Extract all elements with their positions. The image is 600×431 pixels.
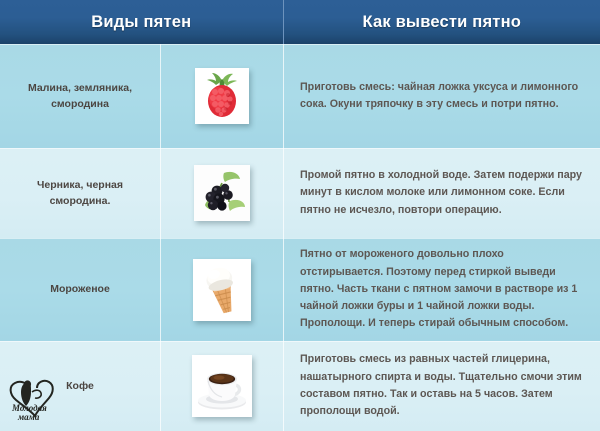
blackcurrant-image <box>194 165 250 221</box>
table-header: Виды пятен Как вывести пятно <box>0 0 600 44</box>
table-row: Мороженое Пятно <box>0 238 600 341</box>
table-row: Черника, черная смородина. <box>0 148 600 238</box>
removal-instructions-cell: Промой пятно в холодной воде. Затем поде… <box>283 148 600 238</box>
stain-removal-table: Виды пятен Как вывести пятно Малина, зем… <box>0 0 600 431</box>
ice-cream-cone-image <box>193 259 251 321</box>
header-cell-how-to-remove: Как вывести пятно <box>283 0 600 44</box>
stain-name-cell: Мороженое <box>0 238 160 341</box>
coffee-cup-image <box>192 355 252 417</box>
header-cell-stain-types: Виды пятен <box>0 0 283 44</box>
stain-name-cell: Черника, черная смородина. <box>0 148 160 238</box>
stain-image-cell <box>160 44 283 148</box>
stain-image-cell <box>160 341 283 431</box>
stain-image-cell <box>160 238 283 341</box>
stain-name-cell: Кофе <box>0 341 160 431</box>
stain-name-cell: Малина, земляника, смородина <box>0 44 160 148</box>
table-row: Кофе Приготовь смесь из равных <box>0 341 600 431</box>
stain-image-cell <box>160 148 283 238</box>
raspberry-image <box>195 68 249 124</box>
removal-instructions-cell: Приготовь смесь: чайная ложка уксуса и л… <box>283 44 600 148</box>
removal-instructions-cell: Пятно от мороженого довольно плохо отсти… <box>283 238 600 341</box>
table-row: Малина, земляника, смородина <box>0 44 600 148</box>
removal-instructions-cell: Приготовь смесь из равных частей глицери… <box>283 341 600 431</box>
